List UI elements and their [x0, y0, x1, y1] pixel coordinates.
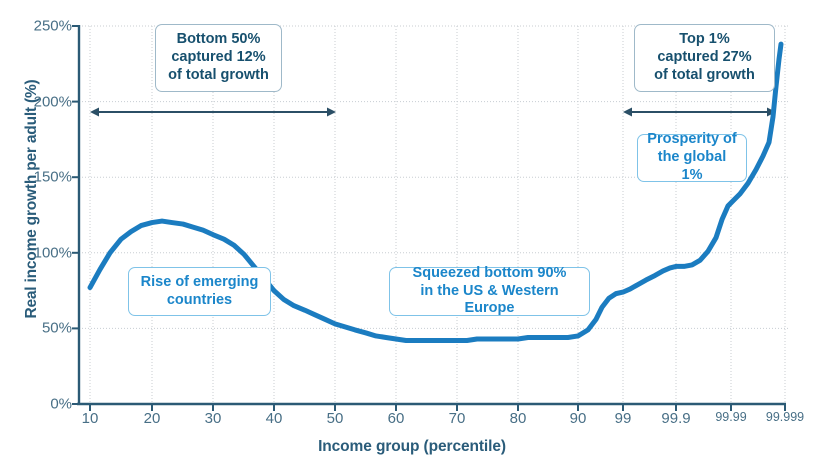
squeezed-box: Squeezed bottom 90% in the US & Western …: [389, 267, 590, 316]
rise-emerging-box: Rise of emerging countries: [128, 267, 271, 316]
chart-figure: Real income growth per adult (%) Income …: [0, 0, 824, 468]
top-1-box: Top 1% captured 27% of total growth: [634, 24, 775, 92]
prosperity-box: Prosperity of the global 1%: [637, 134, 747, 182]
range-arrows: [90, 108, 776, 117]
bottom-50-box: Bottom 50% captured 12% of total growth: [155, 24, 282, 92]
